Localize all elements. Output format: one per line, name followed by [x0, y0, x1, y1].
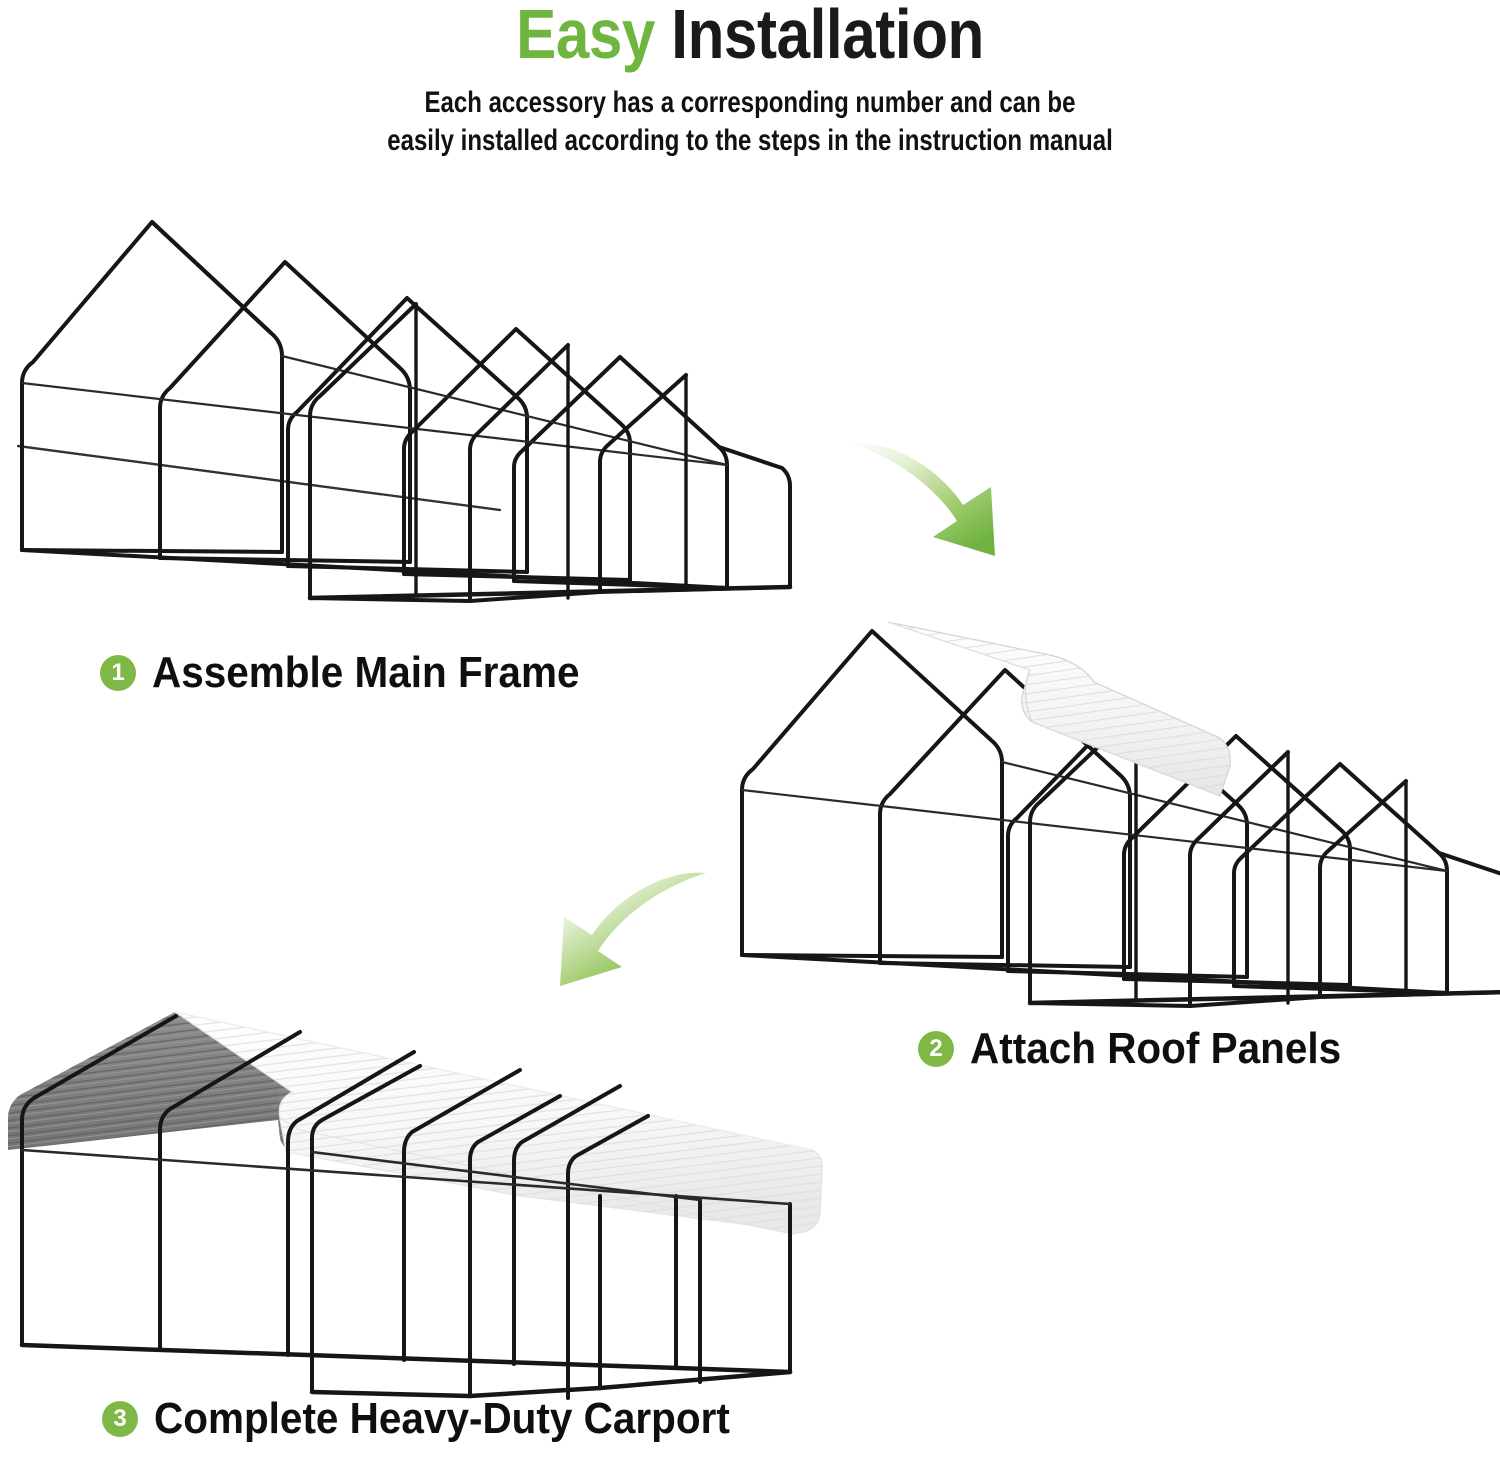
step-1-text: Assemble Main Frame: [152, 650, 579, 696]
wireframe-carport-frame-svg: [0, 200, 820, 600]
step-1-diagram: [0, 200, 820, 600]
subtitle-line-1: Each accessory has a corresponding numbe…: [150, 84, 1350, 122]
step-1-label: 1 Assemble Main Frame: [100, 650, 617, 696]
page-title-rest: Installation: [655, 0, 984, 73]
arrow-down-right-icon: [845, 425, 1055, 570]
page-title: Easy Installation: [105, 0, 1395, 70]
step-3-badge: 3: [102, 1401, 138, 1437]
step-2-label: 2 Attach Roof Panels: [918, 1026, 1373, 1072]
step-1-badge: 1: [100, 655, 136, 691]
arrow-down-left-icon: [495, 855, 710, 1000]
arrow-step1-to-step2: [845, 425, 1055, 570]
step-2-text: Attach Roof Panels: [970, 1026, 1341, 1072]
roof-panel: [888, 622, 1230, 796]
completed-carport-svg: [0, 1000, 830, 1400]
step-2-diagram: [720, 600, 1500, 1020]
page-title-highlight: Easy: [516, 0, 655, 73]
step-2-badge: 2: [918, 1031, 954, 1067]
step-3-text: Complete Heavy-Duty Carport: [154, 1396, 730, 1442]
subtitle-line-2: easily installed according to the steps …: [150, 122, 1350, 160]
step-3-diagram: [0, 1000, 830, 1400]
step-3-label: 3 Complete Heavy-Duty Carport: [102, 1396, 780, 1442]
easy-installation-infographic: Easy Installation Each accessory has a c…: [0, 0, 1500, 1465]
arrow-step2-to-step3: [495, 855, 710, 1000]
frame-with-roof-panel-svg: [720, 600, 1500, 1020]
header: Easy Installation Each accessory has a c…: [0, 0, 1500, 160]
